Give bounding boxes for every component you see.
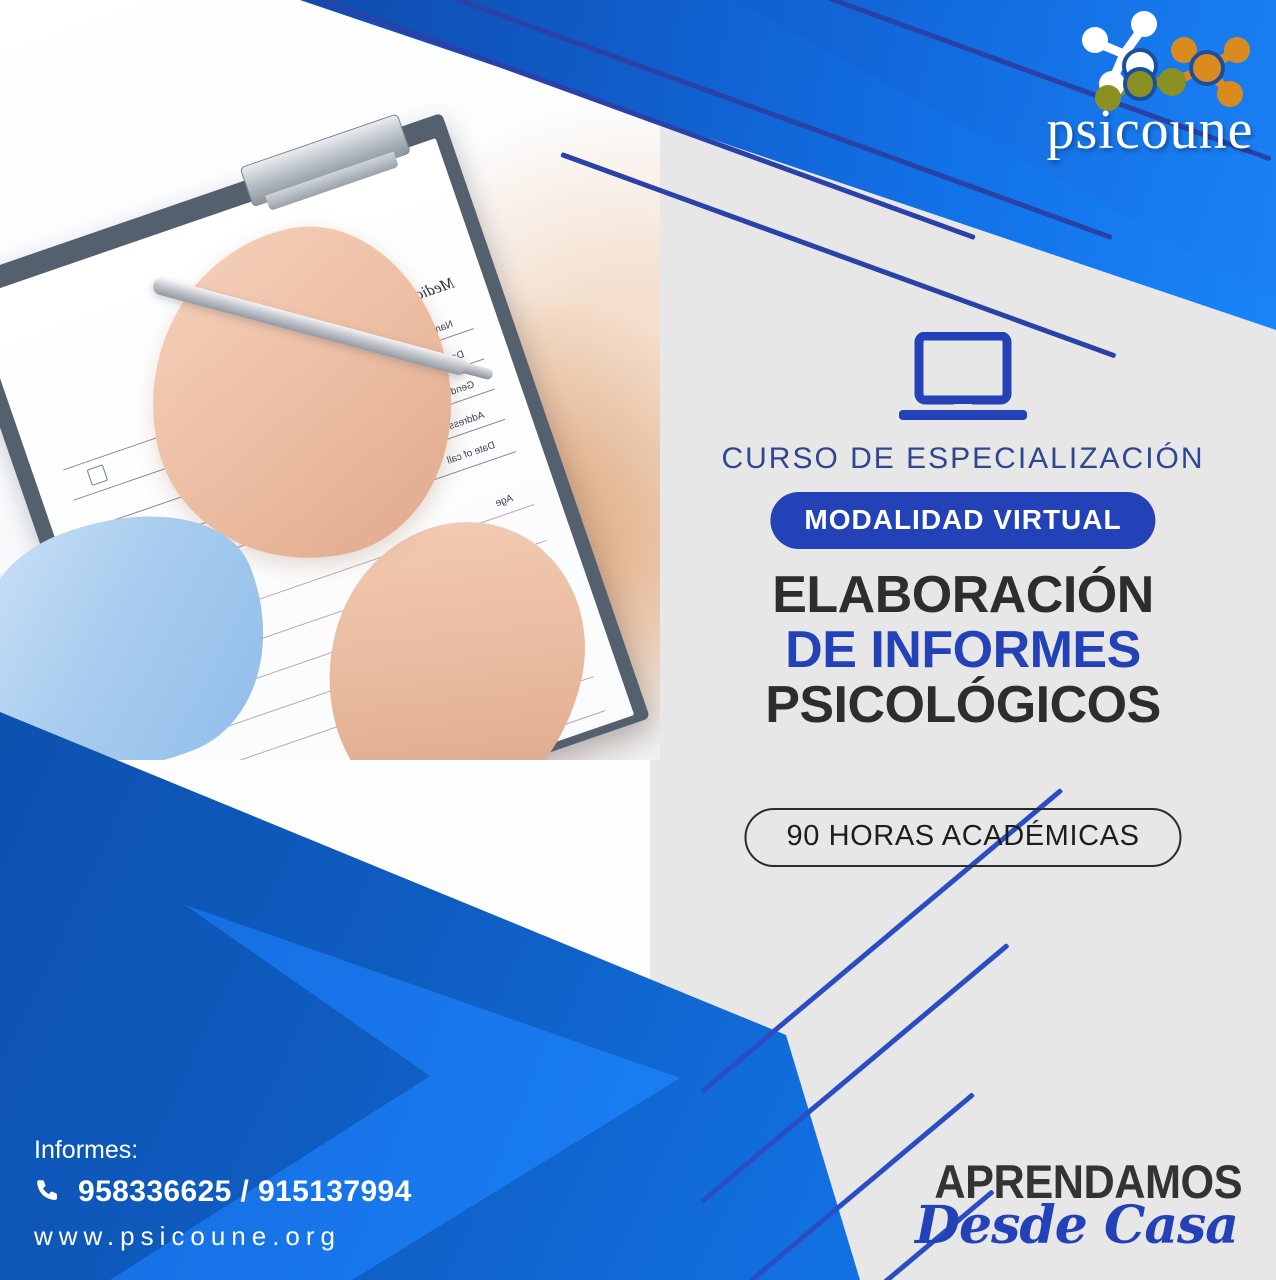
contact-block: Informes: 958336625 / 915137994 www.psic… xyxy=(34,1136,412,1252)
phone-icon xyxy=(34,1177,64,1207)
contact-website[interactable]: www.psicoune.org xyxy=(34,1221,412,1252)
form-checkbox xyxy=(87,464,109,486)
course-kicker: CURSO DE ESPECIALIZACIÓN xyxy=(650,442,1276,476)
contact-phone-numbers: 958336625 / 915137994 xyxy=(78,1175,412,1209)
main-content: CURSO DE ESPECIALIZACIÓN MODALIDAD VIRTU… xyxy=(650,0,1276,1280)
title-line-3: PSICOLÓGICOS xyxy=(650,678,1276,733)
clipboard-photo: Medical card Name Date of birth Gender A… xyxy=(0,0,660,760)
hours-badge: 90 HORAS ACADÉMICAS xyxy=(744,808,1181,867)
modality-badge: MODALIDAD VIRTUAL xyxy=(770,492,1155,549)
form-field-datecall: Date of call xyxy=(446,440,497,467)
course-title: ELABORACIÓN DE INFORMES PSICOLÓGICOS xyxy=(650,568,1276,733)
slogan-block: APRENDAMOS Desde Casa xyxy=(908,1154,1238,1256)
slogan-line-1: APRENDAMOS xyxy=(934,1154,1238,1209)
form-field-address: Address xyxy=(448,410,486,432)
contact-label: Informes: xyxy=(34,1136,412,1165)
title-line-1: ELABORACIÓN xyxy=(650,568,1276,623)
form-field-age: Age xyxy=(494,493,514,509)
laptop-icon xyxy=(899,332,1027,426)
title-line-2: DE INFORMES xyxy=(650,623,1276,678)
promo-poster: Medical card Name Date of birth Gender A… xyxy=(0,0,1276,1280)
contact-phones-row[interactable]: 958336625 / 915137994 xyxy=(34,1175,412,1209)
